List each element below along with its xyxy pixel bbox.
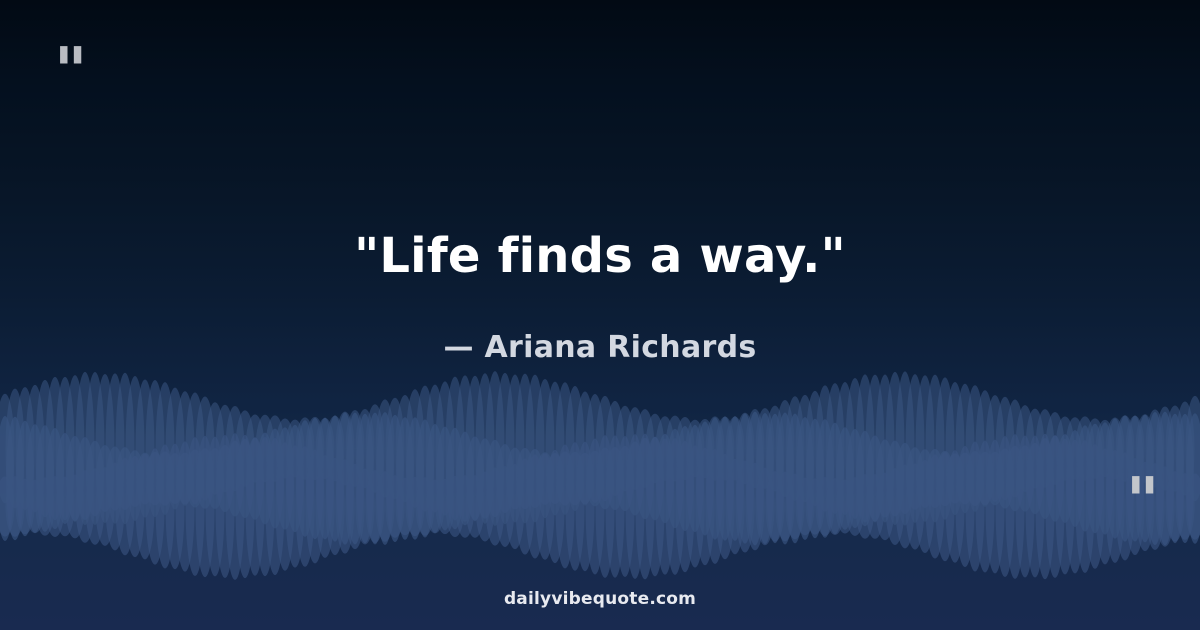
waveform-band-front xyxy=(0,433,1200,580)
quote-mark-icon-bottom-right: " xyxy=(1126,470,1161,534)
site-watermark: dailyvibequote.com xyxy=(0,589,1200,609)
audio-waveform-decoration xyxy=(0,0,1200,630)
quote-card: " " "Life finds a way." — Ariana Richard… xyxy=(0,0,1200,630)
